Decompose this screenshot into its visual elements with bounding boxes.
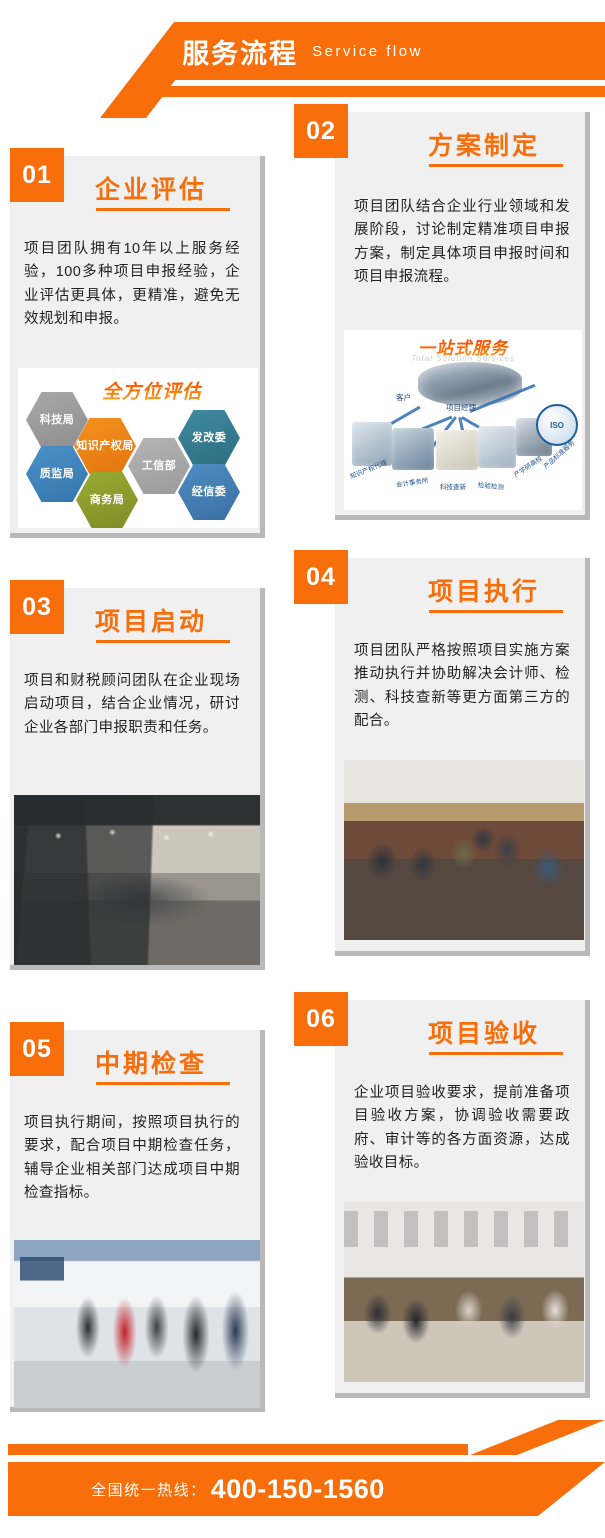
hexagon-node-gongxinbu: 工信部: [128, 438, 190, 494]
office-meeting-photo-image: [344, 760, 584, 940]
service-label-manager: 项目经理: [446, 402, 476, 413]
footer-hotline-label: 全国统一热线：: [91, 1479, 207, 1500]
showroom-visit-photo: [14, 1240, 260, 1408]
service-node-photo-2: [392, 428, 434, 470]
hexagon-node-fagaiwei: 发改委: [178, 410, 240, 466]
card-01-title: 企业评估: [95, 170, 207, 206]
card-06-body: 企业项目验收要求，提前准备项目验收方案，协调验收需要政府、审计等的各方面资源，达…: [354, 1082, 570, 1176]
card-02-body: 项目团队结合企业行业领域和发展阶段，讨论制定精准项目申报方案，制定具体项目申报时…: [354, 196, 570, 290]
service-label-tech-search: 科技查新: [440, 481, 466, 491]
card-03-number-badge: 03: [10, 580, 64, 634]
card-03-body: 项目和财税顾问团队在企业现场启动项目，结合企业情况，研讨企业各部门申报职责和任务…: [24, 670, 240, 740]
card-02-number-badge: 02: [294, 104, 348, 158]
service-center-photo: [418, 362, 522, 406]
card-05-title-rule: [96, 1082, 230, 1085]
card-05-number-badge: 05: [10, 1022, 64, 1076]
service-label-university: 产学研高校: [511, 453, 544, 479]
service-label-accounting: 会计事务所: [395, 475, 429, 489]
hexagon-infographic-title: 全方位评估: [102, 377, 202, 404]
page-header: 服务流程 Service flow: [0, 0, 605, 118]
card-04-title: 项目执行: [428, 572, 540, 608]
page-title: 服务流程: [182, 32, 298, 71]
card-04-title-rule: [429, 610, 563, 613]
card-06-title-rule: [429, 1052, 563, 1055]
card-01-body: 项目团队拥有10年以上服务经验，100多种项目申报经验，企业评估更具体，更精准，…: [24, 238, 240, 332]
service-node-photo-4: [478, 426, 516, 468]
card-01-title-rule: [96, 208, 230, 211]
card-04-body: 项目团队严格按照项目实施方案推动执行并协助解决会计师、检测、科技查新等更方面第三…: [354, 640, 570, 734]
hexagon-assessment-infographic: 全方位评估 科技局 知识产权局 发改委 质监局 工信部 商务局 经信委: [18, 368, 258, 528]
card-05-title: 中期检查: [95, 1044, 207, 1080]
service-node-photo-1: [352, 422, 392, 466]
card-01-number-badge: 01: [10, 148, 64, 202]
card-05-body: 项目执行期间，按照项目执行的要求，配合项目中期检查任务，辅导企业相关部门达成项目…: [24, 1112, 240, 1206]
award-room-meeting-photo: [344, 1202, 584, 1382]
footer-hotline-number[interactable]: 400-150-1560: [211, 1474, 385, 1505]
page-subtitle: Service flow: [312, 43, 423, 60]
service-node-photo-3: [436, 430, 478, 470]
office-meeting-photo: [344, 760, 584, 940]
card-02-title-rule: [429, 164, 563, 167]
card-02-title: 方案制定: [428, 126, 540, 162]
one-stop-service-infographic: 一站式服务 Total Solution Services 客户 项目经理 IS…: [344, 330, 582, 510]
hexagon-node-jingxinwei: 经信委: [178, 464, 240, 520]
footer-hotline-group: 全国统一热线： 400-150-1560: [8, 1462, 468, 1516]
header-thin-stripe: [142, 86, 605, 97]
hexagon-node-shangwuju: 商务局: [76, 472, 138, 528]
card-04-number-badge: 04: [294, 550, 348, 604]
conference-room-photo-image: [14, 795, 260, 965]
card-03-title: 项目启动: [95, 602, 207, 638]
service-label-customer: 客户: [396, 392, 411, 403]
conference-room-photo: [14, 795, 260, 965]
card-06-number-badge: 06: [294, 992, 348, 1046]
service-label-inspection: 检验检测: [477, 479, 504, 492]
award-room-meeting-photo-image: [344, 1202, 584, 1382]
showroom-visit-photo-image: [14, 1240, 260, 1408]
card-06-title: 项目验收: [428, 1014, 540, 1050]
page-footer: 全国统一热线： 400-150-1560: [0, 1410, 605, 1538]
card-03-title-rule: [96, 640, 230, 643]
footer-thin-stripe: [8, 1444, 468, 1455]
header-title-group: 服务流程 Service flow: [0, 22, 605, 80]
